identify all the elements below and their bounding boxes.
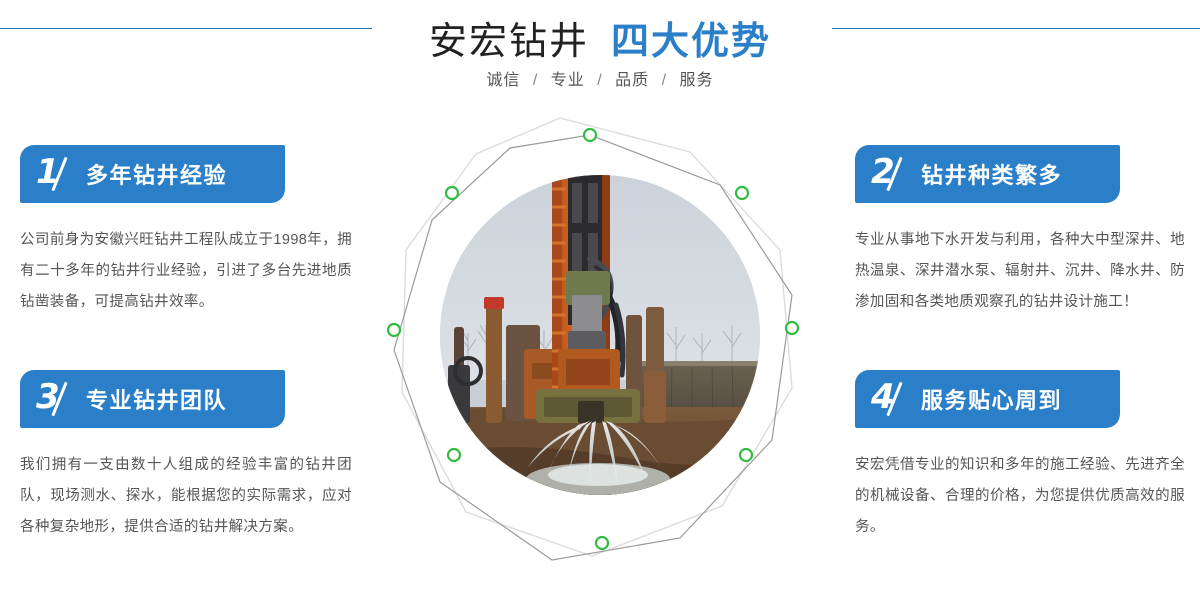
feature-badge-3[interactable]: 3 专业钻井团队 bbox=[20, 370, 285, 428]
drilling-rig-photo bbox=[440, 175, 760, 495]
polygon-node-bottom bbox=[596, 537, 608, 549]
polygon-node-left bbox=[388, 324, 400, 336]
feature-body-1: 公司前身为安徽兴旺钻井工程队成立于1998年，拥有二十多年的钻井行业经验，引进了… bbox=[20, 225, 352, 318]
feature-badge-2[interactable]: 2 钻井种类繁多 bbox=[855, 145, 1120, 203]
feature-title-3: 专业钻井团队 bbox=[86, 383, 227, 415]
feature-title-2: 钻井种类繁多 bbox=[921, 158, 1062, 190]
feature-body-3: 我们拥有一支由数十人组成的经验丰富的钻井团队，现场测水、探水，能根据您的实际需求… bbox=[20, 450, 352, 543]
feature-number-icon-3: 3 bbox=[36, 379, 80, 419]
polygon-node-lower-right bbox=[740, 449, 752, 461]
page-header: 安宏钻井四大优势 诚信 / 专业 / 品质 / 服务 bbox=[0, 0, 1200, 110]
polygon-node-upper-right bbox=[736, 187, 748, 199]
page-title-accent: 四大优势 bbox=[611, 21, 771, 63]
feature-block-2: 2 钻井种类繁多 专业从事地下水开发与利用，各种大中型深井、地热温泉、深井潜水泵… bbox=[855, 145, 1200, 318]
feature-title-1: 多年钻井经验 bbox=[86, 158, 227, 190]
feature-block-1: 1 多年钻井经验 公司前身为安徽兴旺钻井工程队成立于1998年，拥有二十多年的钻… bbox=[20, 145, 370, 318]
subtitle-item-0: 诚信 bbox=[486, 72, 520, 89]
subtitle-item-3: 服务 bbox=[680, 72, 714, 89]
feature-number-icon-1: 1 bbox=[36, 154, 80, 194]
page-root: 安宏钻井四大优势 诚信 / 专业 / 品质 / 服务 1 多年钻井经验 公司前身… bbox=[0, 0, 1200, 600]
drilling-rig-illustration bbox=[440, 175, 760, 495]
feature-number-icon-4: 4 bbox=[871, 379, 915, 419]
feature-title-4: 服务贴心周到 bbox=[921, 383, 1062, 415]
subtitle-separator-0: / bbox=[533, 72, 538, 89]
polygon-node-lower-left bbox=[448, 449, 460, 461]
subtitle-item-1: 专业 bbox=[551, 72, 585, 89]
polygon-node-top bbox=[584, 129, 596, 141]
feature-number-icon-2: 2 bbox=[871, 154, 915, 194]
page-title: 安宏钻井四大优势 bbox=[0, 10, 1200, 65]
feature-badge-1[interactable]: 1 多年钻井经验 bbox=[20, 145, 285, 203]
subtitle-separator-1: / bbox=[597, 72, 602, 89]
polygon-node-right bbox=[786, 322, 798, 334]
feature-body-4: 安宏凭借专业的知识和多年的施工经验、先进齐全的机械设备、合理的价格，为您提供优质… bbox=[855, 450, 1185, 543]
subtitle-separator-2: / bbox=[662, 72, 667, 89]
polygon-node-upper-left bbox=[446, 187, 458, 199]
page-subtitle: 诚信 / 专业 / 品质 / 服务 bbox=[0, 66, 1200, 90]
center-graphic bbox=[380, 110, 820, 590]
page-title-primary: 安宏钻井 bbox=[429, 21, 589, 63]
feature-block-4: 4 服务贴心周到 安宏凭借专业的知识和多年的施工经验、先进齐全的机械设备、合理的… bbox=[855, 370, 1200, 543]
feature-block-3: 3 专业钻井团队 我们拥有一支由数十人组成的经验丰富的钻井团队，现场测水、探水，… bbox=[20, 370, 370, 543]
subtitle-item-2: 品质 bbox=[615, 72, 649, 89]
feature-body-2: 专业从事地下水开发与利用，各种大中型深井、地热温泉、深井潜水泵、辐射井、沉井、降… bbox=[855, 225, 1185, 318]
feature-badge-4[interactable]: 4 服务贴心周到 bbox=[855, 370, 1120, 428]
